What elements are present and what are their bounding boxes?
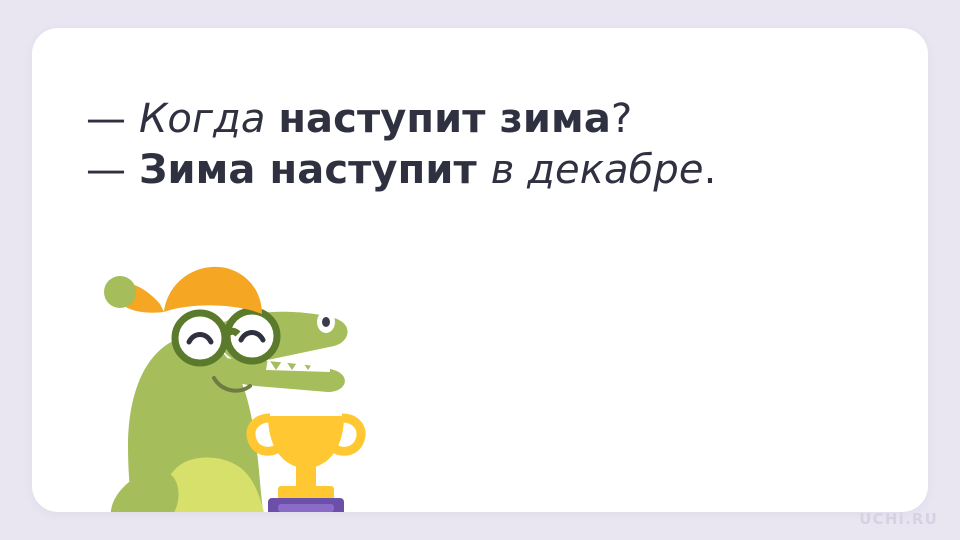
dialogue-line-1-part-2: наступит зима — [278, 96, 611, 142]
dialogue-line-1-dash: — — [86, 96, 126, 142]
dialogue-line-2: — Зима наступит в декабре. — [86, 145, 886, 196]
dialogue-line-2-dash: — — [86, 147, 126, 193]
dialogue-line-2-part-2: в декабре — [491, 147, 704, 193]
watermark-logo: UCHi.RU — [859, 510, 938, 528]
dialogue-line-2-part-1: Зима наступит — [139, 147, 491, 193]
dialogue-line-1-part-3: ? — [611, 96, 632, 142]
dialogue-line-2-part-3: . — [704, 147, 717, 193]
content-card: — Когда наступит зима? — Зима наступит в… — [32, 28, 928, 512]
dialogue-line-1: — Когда наступит зима? — [86, 94, 886, 145]
dialogue-text: — Когда наступит зима? — Зима наступит в… — [86, 94, 886, 196]
crocodile-mascot — [72, 246, 402, 512]
dialogue-line-1-part-1: Когда — [139, 96, 278, 142]
slide-canvas: — Когда наступит зима? — Зима наступит в… — [0, 0, 960, 540]
